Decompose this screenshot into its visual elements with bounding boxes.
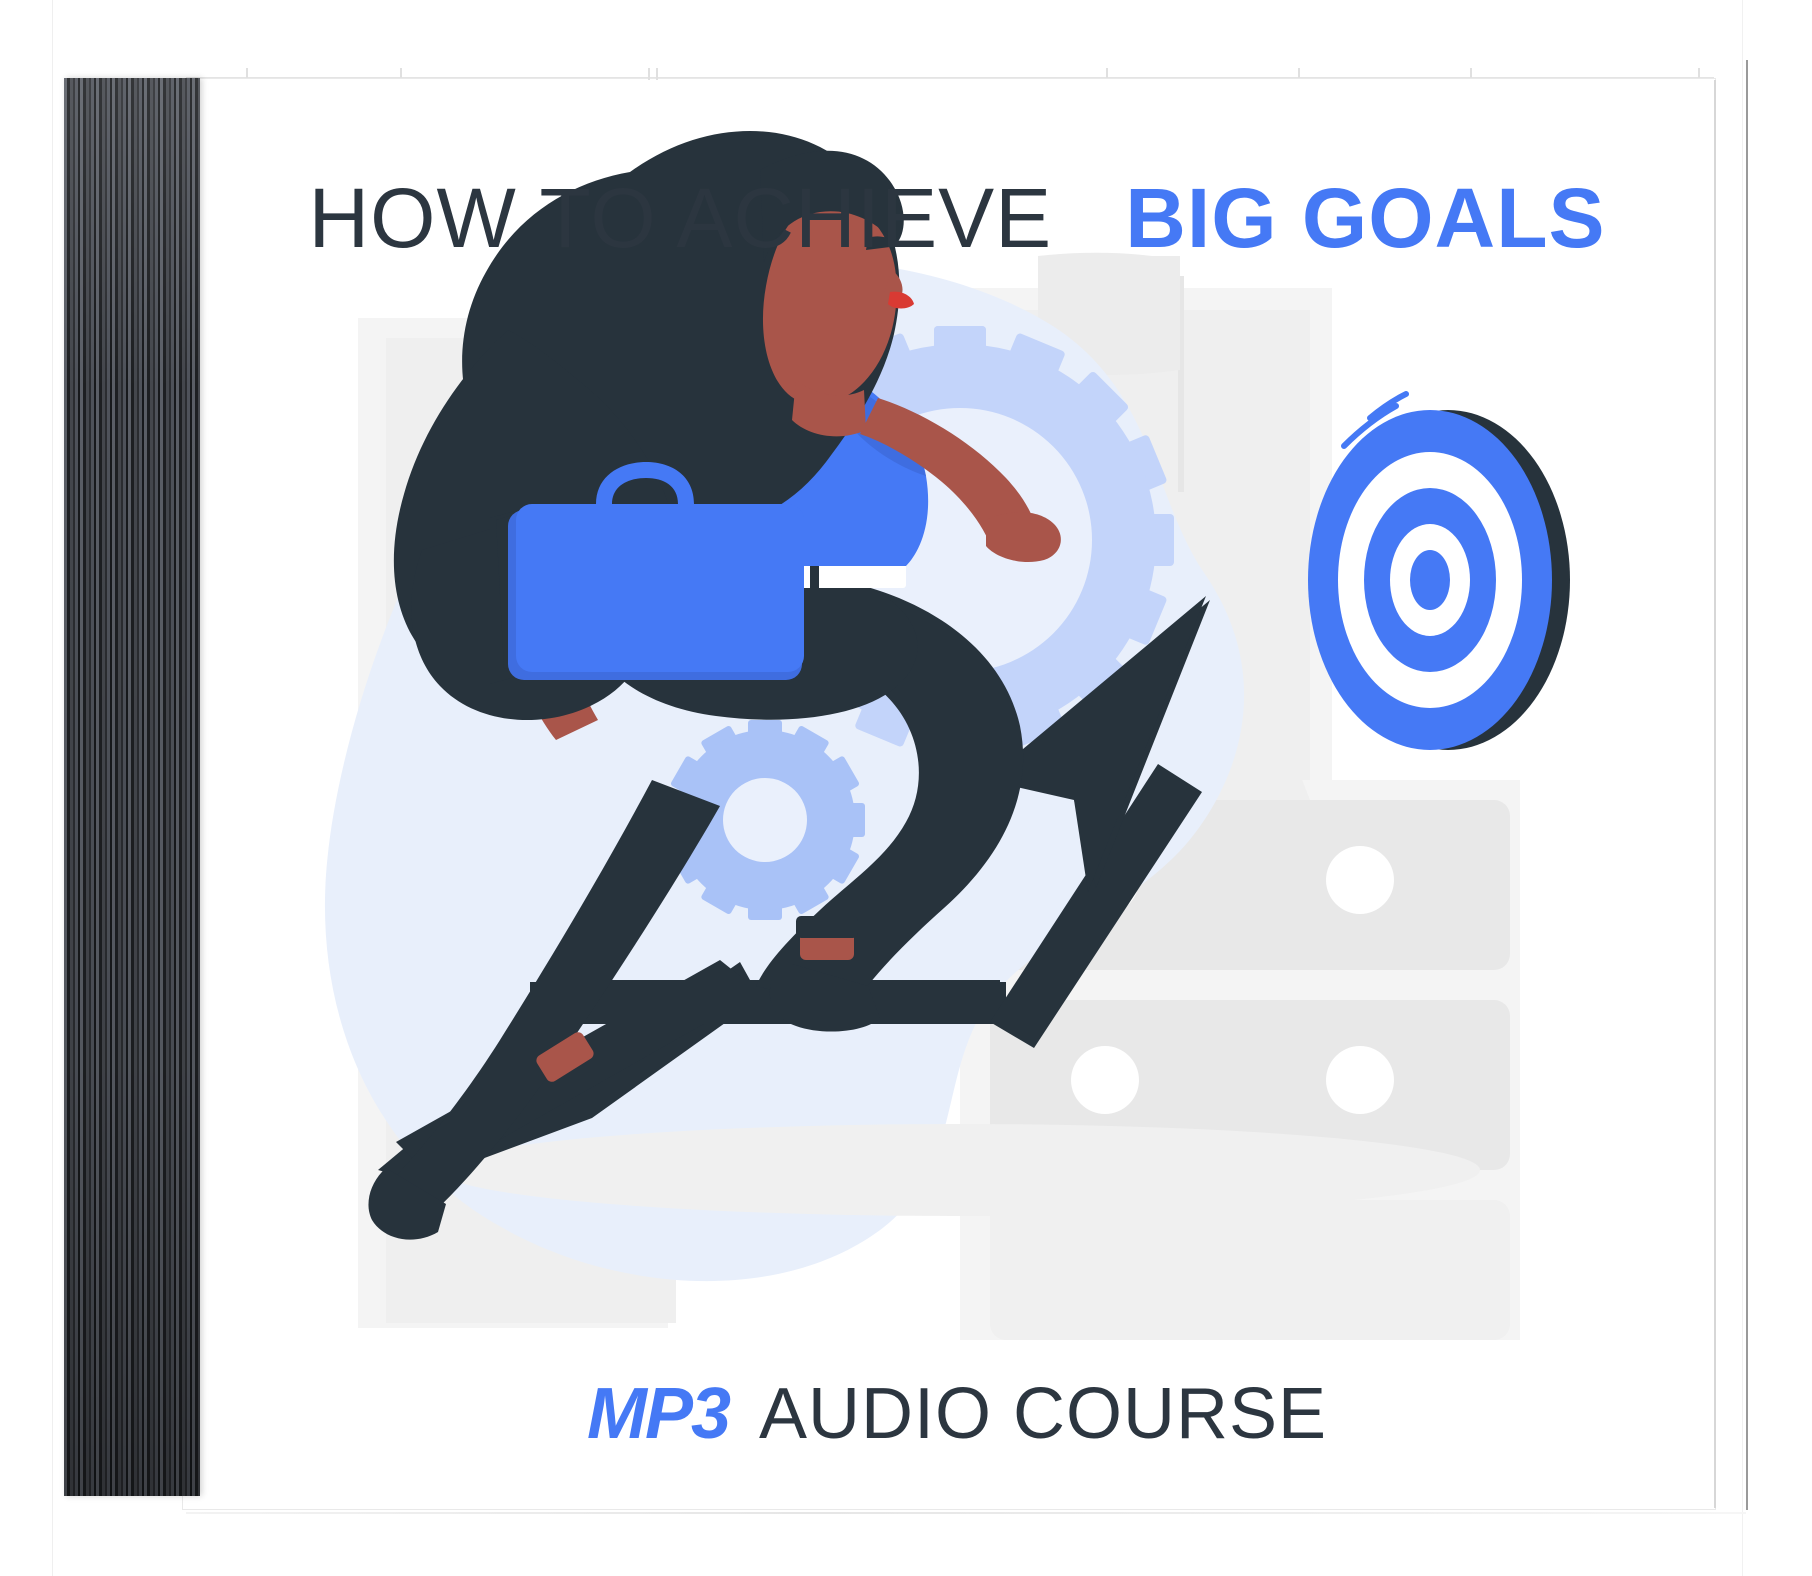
title-accent-text: BIG GOALS xyxy=(1125,171,1605,265)
case-tick-mark xyxy=(1470,68,1472,78)
case-tick-mark xyxy=(656,68,658,80)
mp3-logo: MP3 xyxy=(587,1374,729,1454)
case-outer-right-edge xyxy=(1742,0,1743,1576)
jewel-case-spine xyxy=(64,78,200,1496)
case-tick-mark xyxy=(400,68,402,78)
title-plain-text: HOW TO ACHIEVE xyxy=(308,171,1052,265)
case-top-hairline xyxy=(186,77,1714,78)
illustration-woman-running-toward-target xyxy=(200,80,1714,1508)
case-tick-mark xyxy=(246,68,248,78)
case-tick-mark xyxy=(1698,68,1700,78)
case-tick-mark xyxy=(1106,68,1108,78)
cover-artwork xyxy=(200,80,1714,1508)
case-inner-right-rim xyxy=(1714,80,1716,1508)
case-outer-left-edge xyxy=(52,0,53,1576)
case-tick-mark xyxy=(648,68,650,80)
caption-words: AUDIO COURSE xyxy=(759,1374,1327,1454)
case-right-rim xyxy=(1746,60,1748,1510)
case-tick-mark xyxy=(1298,68,1300,78)
bullseye-target-icon xyxy=(1308,394,1570,750)
cover-caption: MP3 AUDIO COURSE xyxy=(200,1378,1714,1450)
ground-shadow xyxy=(440,1124,1480,1216)
cover-title: HOW TO ACHIEVE BIG GOALS xyxy=(200,176,1714,260)
case-bottom-shadow xyxy=(186,1512,1746,1514)
cover-stage: HOW TO ACHIEVE BIG GOALS MP3 AUDIO COURS… xyxy=(0,0,1812,1576)
